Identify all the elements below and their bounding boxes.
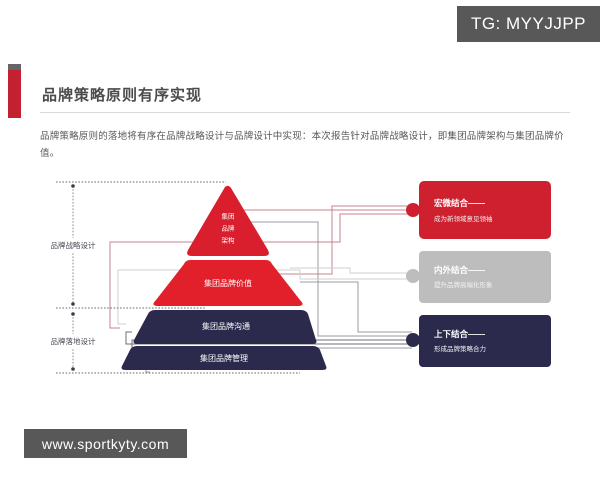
callout-2-connector-dot — [406, 269, 420, 283]
callout-1: 宏微结合—— 成为新领域意见领袖 — [406, 181, 551, 239]
callout-1-subtitle: 成为新领域意见领袖 — [434, 214, 493, 223]
pyramid-diagram: 品牌战略设计 品牌落地设计 集团 品牌 架构 集团品牌价值 集团品牌沟通 集 — [0, 176, 600, 391]
brace-label-strategy: 品牌战略设计 — [51, 240, 96, 250]
title-accent-bar — [8, 70, 21, 118]
callout-3-subtitle: 形成品牌策略合力 — [434, 344, 486, 353]
callout-3-box — [419, 315, 551, 367]
page-description: 品牌策略原则的落地将有序在品牌战略设计与品牌设计中实现：本次报告针对品牌战略设计… — [40, 128, 568, 162]
slide-canvas: TG: MYYJJPP 品牌策略原则有序实现 品牌策略原则的落地将有序在品牌战略… — [0, 0, 600, 480]
pyramid-apex-line2: 品牌 — [222, 224, 236, 233]
connector-tier2-to-callout1 — [276, 206, 412, 274]
watermark-top: TG: MYYJJPP — [457, 6, 600, 42]
callout-3-title: 上下结合—— — [434, 329, 486, 339]
pyramid-tier-apex — [187, 186, 269, 256]
page-title: 品牌策略原则有序实现 — [42, 84, 202, 105]
connector-tier2-to-callout2 — [290, 268, 412, 273]
callout-2: 内外结合—— 提升品牌高端化形象 — [406, 251, 551, 303]
brace-dot-landing-bottom — [71, 367, 75, 371]
brace-dot-strategy-bottom — [71, 302, 75, 306]
callout-1-connector-dot — [406, 203, 420, 217]
pyramid-tier2-label: 集团品牌价值 — [204, 278, 252, 288]
pyramid-tier3-label: 集团品牌沟通 — [202, 321, 250, 331]
callout-2-box — [419, 251, 551, 303]
pyramid-apex-line3: 架构 — [222, 236, 236, 245]
watermark-bottom: www.sportkyty.com — [24, 429, 187, 458]
callout-3: 上下结合—— 形成品牌策略合力 — [406, 315, 551, 367]
brace-label-landing: 品牌落地设计 — [51, 336, 96, 346]
connector-tier2-to-callout3 — [300, 282, 412, 332]
title-divider — [40, 112, 570, 113]
brace-dot-strategy-top — [71, 184, 75, 188]
callout-1-box — [419, 181, 551, 239]
pyramid-apex-line1: 集团 — [222, 212, 235, 221]
pyramid-shapes: 集团 品牌 架构 集团品牌价值 集团品牌沟通 集团品牌管理 — [122, 186, 327, 370]
callout-2-subtitle: 提升品牌高端化形象 — [434, 280, 493, 289]
callout-3-connector-dot — [406, 333, 420, 347]
brace-dot-landing-top — [71, 312, 75, 316]
callout-1-title: 宏微结合—— — [434, 198, 486, 208]
callout-2-title: 内外结合—— — [434, 265, 486, 275]
pyramid-tier4-label: 集团品牌管理 — [200, 353, 248, 363]
